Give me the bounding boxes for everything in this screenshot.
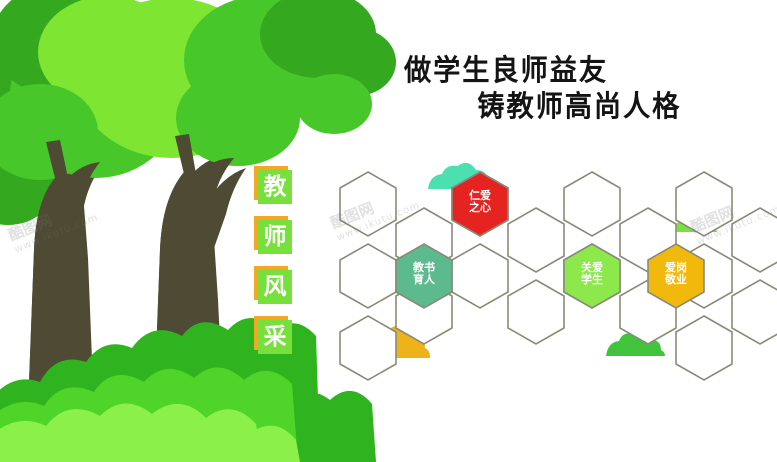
chip-face: 采	[258, 320, 292, 354]
title-line-1: 做学生良师益友	[404, 52, 728, 88]
chip-face: 教	[258, 170, 292, 204]
poster-canvas: 仁爱 之心 教书 育人 关爱 学生 爱岗 敬业 做学生良师益友 铸教师高尚人格 …	[0, 0, 777, 462]
poster-title: 做学生良师益友 铸教师高尚人格	[404, 52, 749, 124]
vertical-chip-4: 采	[258, 320, 292, 354]
chip-char: 师	[264, 226, 287, 249]
chip-char: 教	[264, 176, 287, 199]
vertical-chip-2: 师	[258, 220, 292, 254]
vertical-heading: 教 师 风 采	[258, 170, 312, 370]
hex-care-for-students	[564, 244, 620, 308]
vertical-chip-3: 风	[258, 270, 292, 304]
chip-face: 风	[258, 270, 292, 304]
vertical-chip-1: 教	[258, 170, 292, 204]
hex-benevolent-heart	[452, 172, 508, 236]
chip-face: 师	[258, 220, 292, 254]
chip-char: 风	[264, 276, 287, 299]
title-line-2: 铸教师高尚人格	[404, 88, 728, 124]
chip-char: 采	[264, 326, 287, 349]
